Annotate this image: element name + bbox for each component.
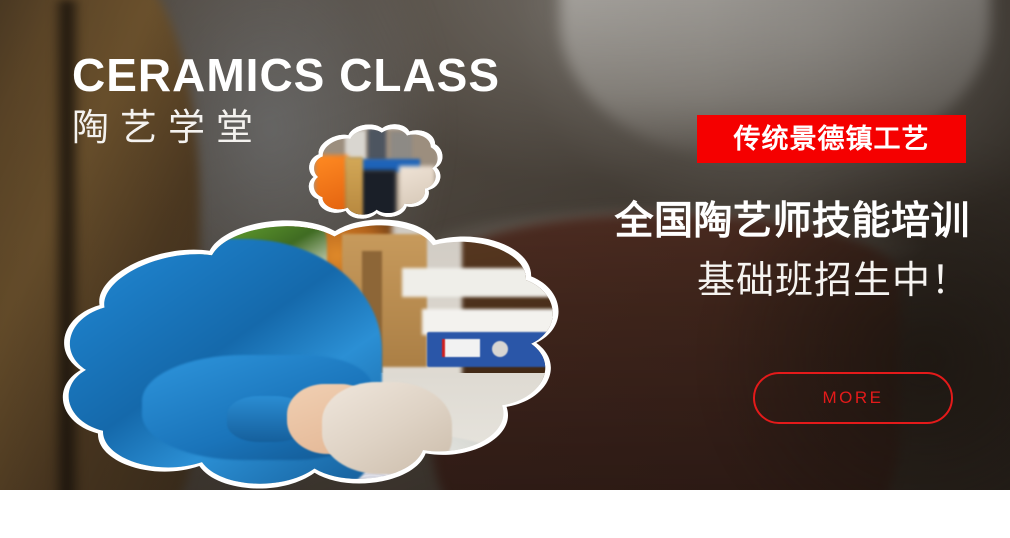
cloud-photo-small xyxy=(312,128,440,224)
status-badge-label: 传统景德镇工艺 xyxy=(734,126,930,153)
ceramics-class-banner: CERAMICS CLASS 陶艺学堂 传统景德镇工艺 全国陶艺师技能培训 基础… xyxy=(0,0,1010,538)
more-button[interactable]: MORE xyxy=(753,372,953,424)
cloud-photo-main xyxy=(62,222,562,512)
headline-primary: 全国陶艺师技能培训 xyxy=(560,200,970,244)
headline-secondary: 基础班招生中！ xyxy=(560,260,970,303)
bottom-white-strip xyxy=(0,490,1010,538)
status-badge: 传统景德镇工艺 xyxy=(697,115,966,163)
headline-block: 全国陶艺师技能培训 基础班招生中！ xyxy=(560,200,970,302)
page-title-english: CERAMICS CLASS xyxy=(72,52,500,99)
